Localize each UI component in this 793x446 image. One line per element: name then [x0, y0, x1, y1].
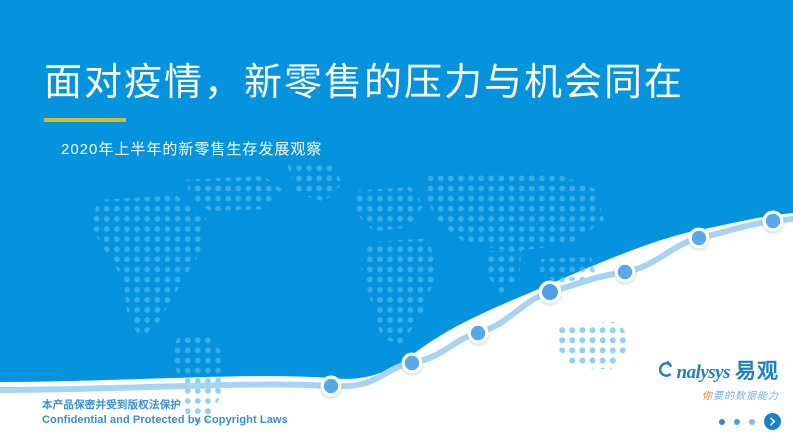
logo-text-cn: 易观	[735, 355, 779, 385]
logo-wordmark: nalysys 易观	[657, 355, 780, 385]
title-block: 面对疫情，新零售的压力与机会同在 2020年上半年的新零售生存发展观察	[44, 58, 684, 159]
copyright-notice-en: Confidential and Protected by Copyright …	[42, 413, 288, 428]
title-accent-rule	[44, 118, 126, 122]
chart-marker	[763, 211, 784, 232]
chart-marker	[321, 376, 342, 397]
pager-dot-3[interactable]	[749, 419, 755, 425]
logo-tagline: 你要的数据能力	[657, 387, 780, 402]
page-subtitle: 2020年上半年的新零售生存发展观察	[61, 138, 684, 159]
pager-dot-2[interactable]	[734, 419, 740, 425]
chart-marker	[689, 228, 710, 249]
logo-tagline-first: 你	[702, 391, 713, 402]
copyright-notice: 本产品保密并受到版权法保护 Confidential and Protected…	[42, 398, 288, 428]
chart-marker	[615, 262, 636, 283]
chart-marker	[468, 323, 489, 344]
chart-marker	[402, 353, 423, 374]
analysys-circle-mark-icon	[657, 361, 672, 378]
analysys-logo: nalysys 易观 你要的数据能力	[657, 355, 780, 402]
page-title: 面对疫情，新零售的压力与机会同在	[44, 58, 684, 108]
chevron-right-icon	[768, 417, 777, 426]
slide-canvas: 面对疫情，新零售的压力与机会同在 2020年上半年的新零售生存发展观察 本产品保…	[0, 0, 793, 446]
chart-marker	[539, 281, 562, 304]
logo-tagline-rest: 要的数据能力	[713, 391, 779, 402]
pager-controls[interactable]	[719, 413, 781, 430]
pager-dot-1[interactable]	[719, 419, 725, 425]
logo-text-en: nalysys	[677, 362, 731, 384]
next-slide-button[interactable]	[764, 413, 781, 430]
copyright-notice-cn: 本产品保密并受到版权法保护	[42, 398, 288, 413]
